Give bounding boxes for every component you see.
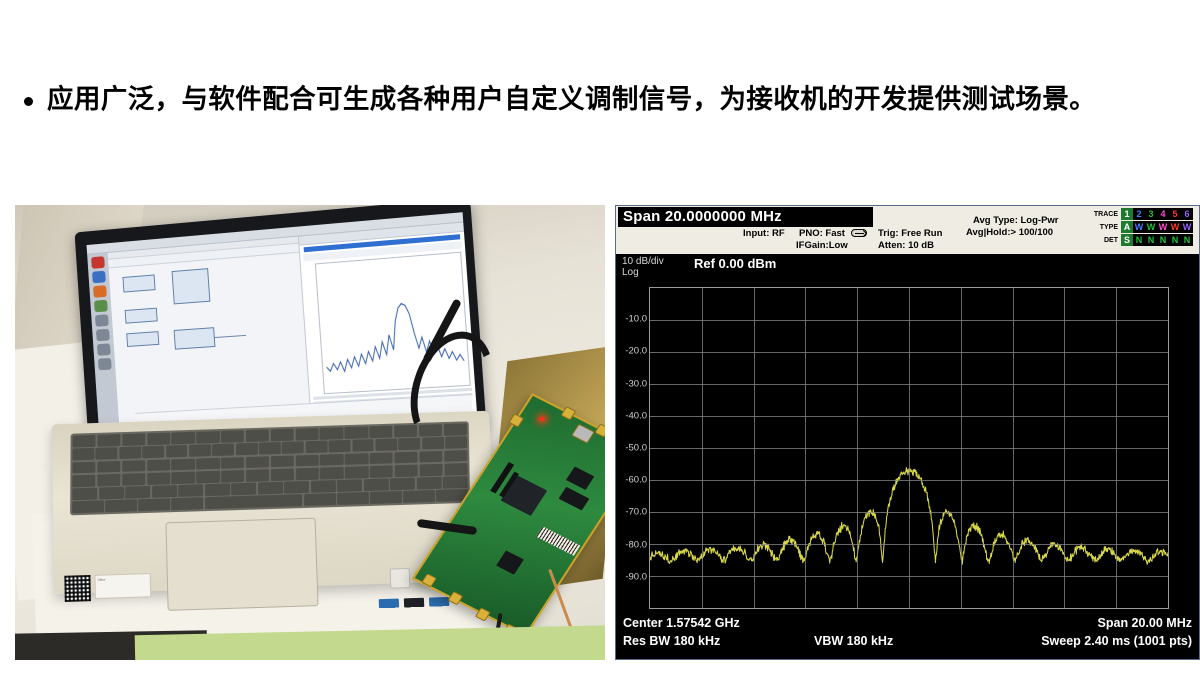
- y-axis-tick-label: -10.0: [625, 314, 647, 325]
- trace-cell[interactable]: W: [1133, 221, 1145, 233]
- laptop-trackpad: [165, 518, 318, 611]
- atten-label: Atten: 10 dB: [878, 240, 934, 251]
- office-sticker: Office: [94, 573, 151, 599]
- trace-cell[interactable]: W: [1181, 221, 1193, 233]
- usb-port-2: [429, 597, 449, 607]
- flowgraph-block-sink: [174, 327, 216, 349]
- y-axis-tick-label: -80.0: [625, 539, 647, 550]
- flowgraph-block-variable: [125, 308, 158, 324]
- vbw-readout: VBW 180 kHz: [814, 634, 893, 648]
- flowgraph-canvas: [108, 237, 312, 432]
- trace-cell[interactable]: N: [1145, 234, 1157, 246]
- dock-icon-app8: [98, 358, 112, 370]
- trace-detector-cells: SNNNNN: [1121, 234, 1193, 246]
- trace-plot[interactable]: [649, 287, 1169, 609]
- center-freq-readout: Center 1.57542 GHz: [623, 616, 740, 630]
- input-label: Input: RF: [743, 228, 785, 239]
- ethernet-port: [404, 598, 424, 608]
- trace-status-box: TRACE 123456 TYPE AWWWWW DET SNNNNN: [1089, 208, 1197, 250]
- y-axis-tick-label: -90.0: [625, 571, 647, 582]
- trace-cell[interactable]: A: [1121, 221, 1133, 233]
- gridline-vertical: [961, 288, 962, 608]
- trace-cell[interactable]: 4: [1157, 208, 1169, 220]
- lab-setup-photo: Office RTX CORE: [15, 205, 605, 660]
- y-axis-tick-label: -40.0: [625, 410, 647, 421]
- span-bottom-readout: Span 20.00 MHz: [1098, 616, 1192, 630]
- trig-label: Trig: Free Run: [878, 228, 942, 239]
- trace-cell[interactable]: N: [1169, 234, 1181, 246]
- trace-cell[interactable]: N: [1133, 234, 1145, 246]
- dock-icon-app2: [92, 271, 106, 284]
- dock-icon-app1: [91, 256, 105, 269]
- dock-icon-app6: [96, 329, 110, 342]
- spectrum-analyzer-screenshot: Span 20.0000000 MHz Input: RF PNO: Fast …: [615, 205, 1200, 660]
- barcode-label: [536, 527, 580, 556]
- clock-chip: [496, 550, 524, 574]
- trace-cell[interactable]: 3: [1145, 208, 1157, 220]
- sweep-readout: Sweep 2.40 ms (1001 pts): [1041, 634, 1192, 648]
- det-row-label: DET: [1089, 237, 1121, 244]
- type-row-label: TYPE: [1089, 224, 1121, 231]
- analyzer-header-band: Span 20.0000000 MHz Input: RF PNO: Fast …: [616, 206, 1199, 254]
- flowgraph-block-variable2: [126, 331, 159, 347]
- scale-type-label: Log: [622, 267, 639, 278]
- bullet-dot-icon: [24, 97, 33, 106]
- gridline-vertical: [857, 288, 858, 608]
- analyzer-footer: Center 1.57542 GHz Span 20.00 MHz Res BW…: [616, 613, 1199, 659]
- dock-icon-app3: [93, 285, 107, 298]
- dock-icon-app7: [97, 343, 111, 356]
- sma-connector-3: [594, 423, 605, 437]
- rf-transceiver-chip: [566, 466, 594, 489]
- pno-label: PNO: Fast: [799, 228, 845, 239]
- gridline-vertical: [1116, 288, 1117, 608]
- y-axis-tick-label: -70.0: [625, 507, 647, 518]
- usb-port-1: [379, 599, 399, 609]
- gridline-vertical: [805, 288, 806, 608]
- trace-cell[interactable]: 2: [1133, 208, 1145, 220]
- y-axis-tick-label: -60.0: [625, 475, 647, 486]
- y-axis-tick-label: -30.0: [625, 378, 647, 389]
- db-per-div-label: 10 dB/div: [622, 256, 664, 267]
- usb-connector: [571, 424, 595, 444]
- trace-cell[interactable]: 5: [1169, 208, 1181, 220]
- y-axis-ticks: -10.0-20.0-30.0-40.0-50.0-60.0-70.0-80.0…: [616, 287, 649, 609]
- bullet-text: 应用广泛，与软件配合可生成各种用户自定义调制信号，为接收机的开发提供测试场景。: [47, 80, 1096, 119]
- laptop-keyboard: [70, 421, 470, 515]
- y-axis-tick-label: -20.0: [625, 346, 647, 357]
- gridline-vertical: [702, 288, 703, 608]
- gridline-vertical: [754, 288, 755, 608]
- gridline-vertical: [909, 288, 910, 608]
- trace-cell[interactable]: 6: [1181, 208, 1193, 220]
- trace-cell[interactable]: S: [1121, 234, 1133, 246]
- gridline-vertical: [1064, 288, 1065, 608]
- memory-chip: [559, 487, 590, 511]
- avg-type-label: Avg Type: Log-Pwr: [973, 215, 1059, 226]
- ifgain-label: IFGain:Low: [796, 240, 848, 251]
- pno-arrow-icon: [851, 229, 867, 237]
- y-axis-tick-label: -50.0: [625, 443, 647, 454]
- trace-cell[interactable]: N: [1181, 234, 1193, 246]
- flowgraph-block-options: [122, 274, 155, 292]
- avg-hold-label: Avg|Hold:> 100/100: [966, 227, 1053, 238]
- trace-cell[interactable]: W: [1157, 221, 1169, 233]
- ref-level-label: Ref 0.00 dBm: [694, 256, 776, 271]
- trace-type-cells: AWWWWW: [1121, 221, 1193, 233]
- trace-cell[interactable]: 1: [1121, 208, 1133, 220]
- dock-icon-app5: [95, 314, 109, 327]
- trace-cell[interactable]: W: [1169, 221, 1181, 233]
- res-bw-readout: Res BW 180 kHz: [623, 634, 720, 648]
- trace-cell[interactable]: N: [1157, 234, 1169, 246]
- office-sticker-label: Office: [98, 578, 106, 582]
- span-readout: Span 20.0000000 MHz: [618, 207, 873, 227]
- reference-line-band: 10 dB/div Log Ref 0.00 dBm: [616, 254, 1199, 287]
- power-led-indicator: [539, 416, 546, 422]
- gridline-vertical: [1013, 288, 1014, 608]
- trace-cell[interactable]: W: [1145, 221, 1157, 233]
- slide-bullet-block: 应用广泛，与软件配合可生成各种用户自定义调制信号，为接收机的开发提供测试场景。: [24, 80, 1174, 119]
- recycling-sticker: [390, 568, 411, 589]
- qr-code-sticker: [64, 575, 91, 602]
- flowgraph-connection: [215, 335, 246, 338]
- graticule-area: -10.0-20.0-30.0-40.0-50.0-60.0-70.0-80.0…: [616, 287, 1199, 609]
- flowgraph-block-source: [172, 268, 211, 304]
- trace-row-label: TRACE: [1089, 211, 1121, 218]
- dock-icon-app4: [94, 300, 108, 313]
- trace-number-cells[interactable]: 123456: [1121, 208, 1193, 220]
